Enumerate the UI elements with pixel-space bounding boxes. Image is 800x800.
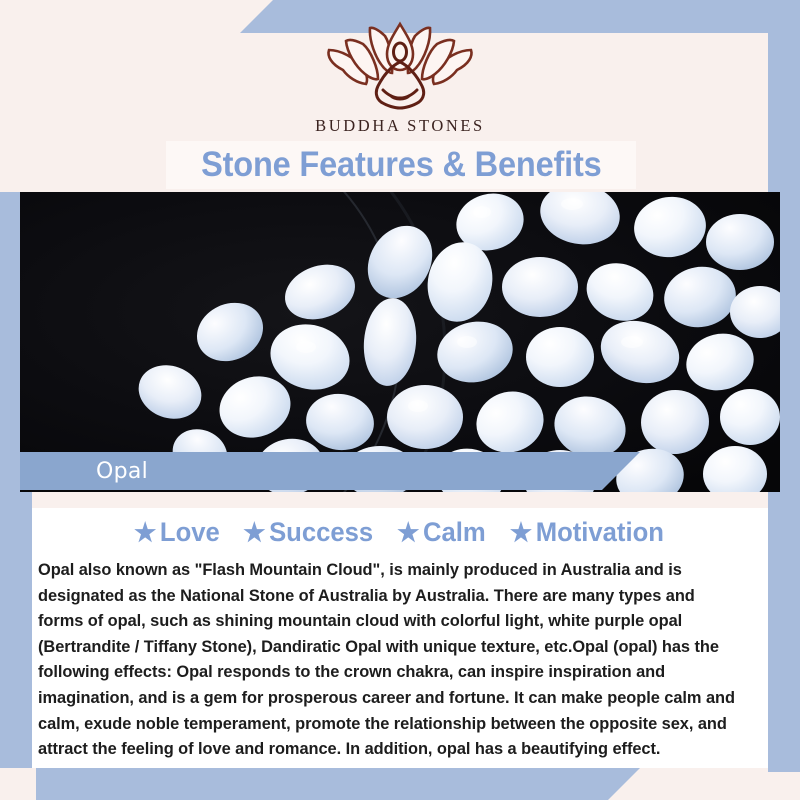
lotus-meditation-icon (315, 18, 485, 113)
stone-photo (20, 192, 780, 492)
benefit-item-love: Love (134, 517, 220, 548)
benefits-list: Love Success Calm Motivation (32, 508, 768, 548)
benefit-label: Motivation (536, 517, 664, 548)
stone-name: Opal (96, 459, 148, 484)
page-title-band: Stone Features & Benefits (166, 141, 636, 189)
content-card: Love Success Calm Motivation Opal also k… (32, 508, 768, 768)
benefit-item-success: Success (244, 517, 374, 548)
infographic-page: BUDDHA STONES Stone Features & Benefits (0, 0, 800, 800)
page-title: Stone Features & Benefits (201, 145, 602, 185)
decor-cream-bottom-left-notch (0, 768, 36, 800)
benefit-label: Calm (423, 517, 486, 548)
description-text: Opal also known as "Flash Mountain Cloud… (38, 558, 740, 763)
photo-caption-band: Opal (20, 452, 640, 490)
header: BUDDHA STONES Stone Features & Benefits (0, 0, 800, 196)
benefit-item-calm: Calm (397, 517, 485, 548)
benefit-label: Success (269, 517, 373, 548)
star-icon (510, 521, 532, 544)
brand-logo: BUDDHA STONES (0, 18, 800, 136)
benefit-label: Love (160, 517, 220, 548)
brand-name: BUDDHA STONES (315, 116, 485, 136)
decor-blue-bottom-band (0, 768, 640, 800)
benefit-item-motivation: Motivation (510, 517, 664, 548)
star-icon (134, 521, 156, 544)
star-icon (244, 521, 266, 544)
star-icon (397, 521, 419, 544)
